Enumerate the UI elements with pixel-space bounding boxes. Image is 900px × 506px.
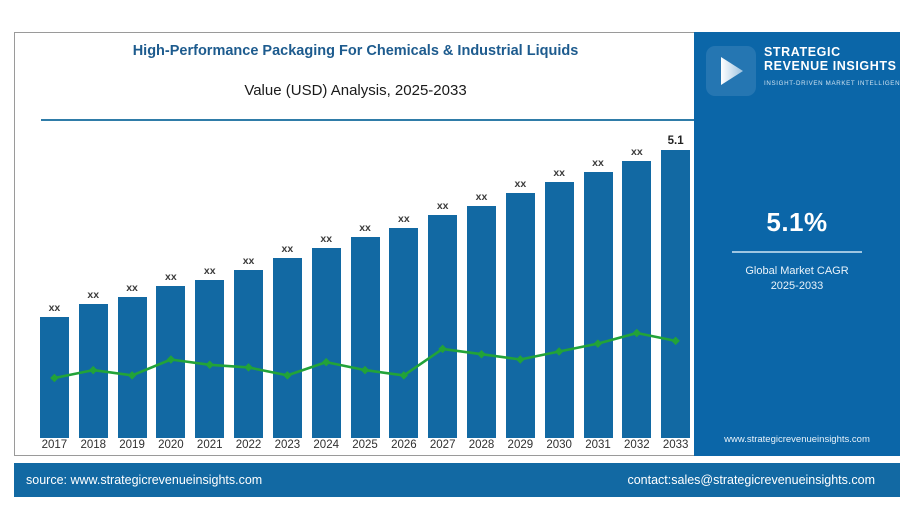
bar-series: xxxxxxxxxxxxxxxxxxxxxxxxxxxxxxxx5.1 [35,150,695,438]
bar[interactable]: 5.1 [661,150,690,438]
bar[interactable]: xx [545,182,574,438]
bar-slot: xx [501,150,540,438]
bar-value-label: xx [553,167,565,179]
bar-value-label: xx [476,191,488,203]
bar-slot: xx [384,150,423,438]
bar-value-label: xx [243,255,255,267]
logo-badge [706,46,756,96]
bar[interactable]: xx [467,206,496,438]
bar-value-label: xx [87,289,99,301]
cagr-caption-line-2: 2025-2033 [694,279,900,294]
x-axis-tick: 2024 [307,439,346,455]
bar-slot: xx [462,150,501,438]
bar-slot: xx [617,150,656,438]
bar-value-label: xx [165,271,177,283]
bar[interactable]: xx [273,258,302,438]
bar-value-label: xx [592,157,604,169]
x-axis-tick: 2032 [617,439,656,455]
bar[interactable]: xx [351,237,380,438]
title-divider [41,119,695,121]
bar[interactable]: xx [584,172,613,438]
bar-value-label: xx [631,146,643,158]
bar-slot: xx [229,150,268,438]
x-axis-tick: 2023 [268,439,307,455]
bar-value-label: xx [282,243,294,255]
brand-logo: STRATEGIC REVENUE INSIGHTS INSIGHT-DRIVE… [702,44,900,100]
x-axis-labels: 2017201820192020202120222023202420252026… [35,439,695,455]
chart-subtitle: Value (USD) Analysis, 2025-2033 [15,82,695,99]
bar-slot: xx [307,150,346,438]
sidebar-website-url[interactable]: www.strategicrevenueinsights.com [694,434,900,445]
footer-contact[interactable]: contact:sales@strategicrevenueinsights.c… [627,463,875,497]
bar-value-label: xx [437,200,449,212]
bar-slot: xx [540,150,579,438]
bar[interactable]: xx [40,317,69,438]
bar-value-label: 5.1 [668,135,684,147]
bar[interactable]: xx [118,297,147,438]
x-axis-tick: 2020 [151,439,190,455]
bar-value-label: xx [126,282,138,294]
bar[interactable]: xx [156,286,185,438]
bar[interactable]: xx [79,304,108,438]
logo-line-2: REVENUE INSIGHTS [764,59,900,73]
bar[interactable]: xx [312,248,341,438]
bar-value-label: xx [359,222,371,234]
x-axis-tick: 2018 [74,439,113,455]
bar-slot: xx [268,150,307,438]
bar-slot: xx [579,150,618,438]
x-axis-tick: 2022 [229,439,268,455]
x-axis-tick: 2017 [35,439,74,455]
bar-slot: xx [190,150,229,438]
logo-tagline: INSIGHT-DRIVEN MARKET INTELLIGENCE [764,80,900,87]
x-axis-tick: 2031 [579,439,618,455]
bar[interactable]: xx [506,193,535,438]
footer-source[interactable]: source: www.strategicrevenueinsights.com [26,463,262,497]
chart-infographic-root: High-Performance Packaging For Chemicals… [0,0,900,506]
bar-slot: xx [423,150,462,438]
chart-card: High-Performance Packaging For Chemicals… [14,32,695,456]
chart-title: High-Performance Packaging For Chemicals… [15,43,695,59]
bar[interactable]: xx [428,215,457,438]
bar-value-label: xx [204,265,216,277]
plot-area: xxxxxxxxxxxxxxxxxxxxxxxxxxxxxxxx5.1 [35,133,695,438]
cagr-highlight: 5.1% Global Market CAGR 2025-2033 [694,207,900,294]
chevron-right-icon [719,56,745,91]
x-axis-tick: 2030 [540,439,579,455]
brand-sidebar: STRATEGIC REVENUE INSIGHTS INSIGHT-DRIVE… [694,32,900,456]
bar-value-label: xx [515,178,527,190]
cagr-caption-line-1: Global Market CAGR [694,264,900,279]
cagr-divider [732,251,862,253]
bar[interactable]: xx [195,280,224,438]
x-axis-tick: 2021 [190,439,229,455]
bar-slot: xx [113,150,152,438]
bar-slot: xx [35,150,74,438]
x-axis-tick: 2029 [501,439,540,455]
bar[interactable]: xx [389,228,418,438]
logo-wordmark: STRATEGIC REVENUE INSIGHTS INSIGHT-DRIVE… [764,45,900,87]
x-axis-tick: 2019 [113,439,152,455]
cagr-value: 5.1% [694,207,900,238]
x-axis-tick: 2026 [384,439,423,455]
x-axis-tick: 2028 [462,439,501,455]
logo-line-1: STRATEGIC [764,45,900,59]
x-axis-tick: 2027 [423,439,462,455]
bar-value-label: xx [320,233,332,245]
bar-slot: 5.1 [656,150,695,438]
bar[interactable]: xx [234,270,263,438]
footer-bar: source: www.strategicrevenueinsights.com… [14,463,900,497]
bar-value-label: xx [398,213,410,225]
bar-slot: xx [151,150,190,438]
x-axis-tick: 2025 [346,439,385,455]
bar-slot: xx [74,150,113,438]
bar[interactable]: xx [622,161,651,438]
bar-slot: xx [346,150,385,438]
x-axis-tick: 2033 [656,439,695,455]
bar-value-label: xx [49,302,61,314]
cagr-caption: Global Market CAGR 2025-2033 [694,264,900,294]
